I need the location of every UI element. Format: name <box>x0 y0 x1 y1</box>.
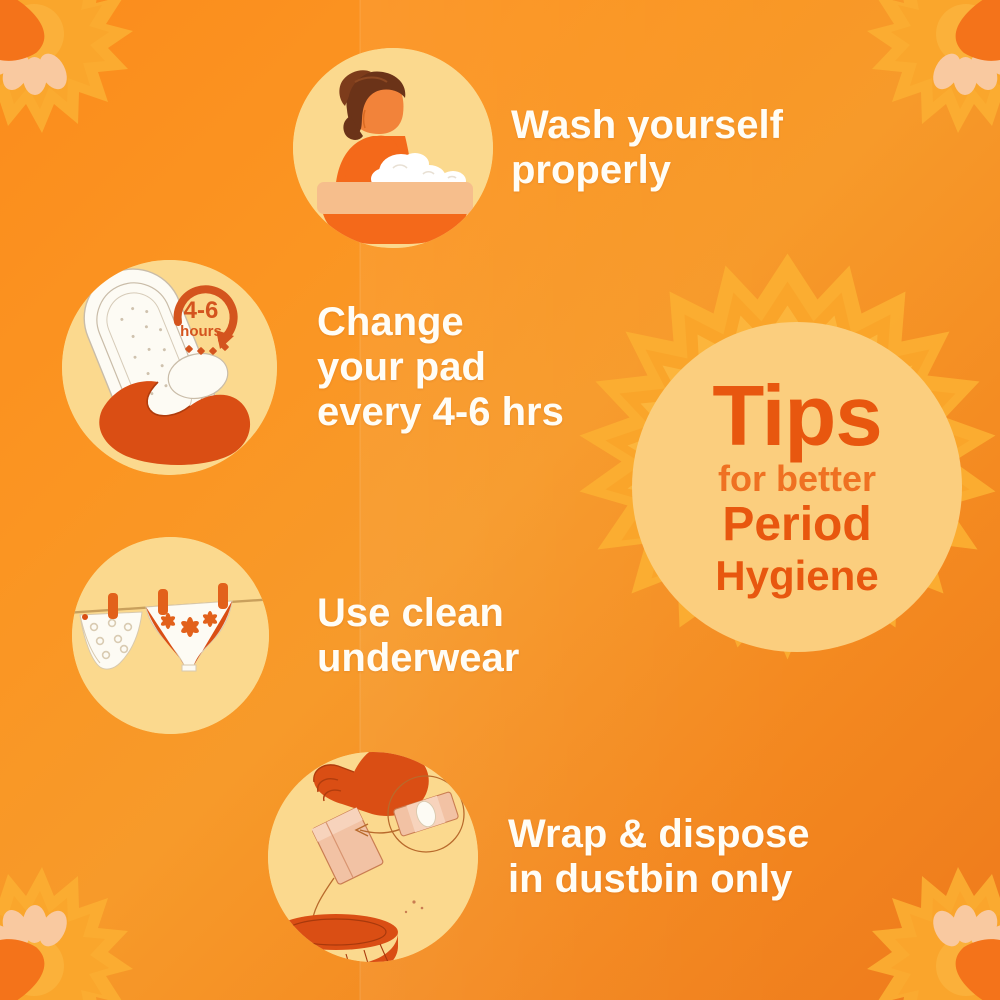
mandala-bottom-left-icon <box>0 866 134 1000</box>
badge-hours-unit: hours <box>180 323 222 340</box>
mandala-bottom-right-icon <box>866 866 1000 1000</box>
tips-title-line2: for better <box>718 460 876 498</box>
underwear-on-clothesline-icon <box>72 537 269 734</box>
tips-title-line4: Hygiene <box>715 554 878 599</box>
poster-canvas: Tips for better Period Hygiene <box>0 0 1000 1000</box>
hand-dropping-pad-in-bin-icon <box>268 752 478 962</box>
badge-hours-value: 4-6 <box>184 297 219 324</box>
tip-item-change-pad: 4-6 hours Change your pad every 4-6 hrs <box>62 260 564 475</box>
tip-item-dispose: Wrap & dispose in dustbin only <box>268 752 810 962</box>
mandala-top-left-icon <box>0 0 134 134</box>
tips-title-line3: Period <box>722 500 871 550</box>
tip-label-change-pad: Change your pad every 4-6 hrs <box>317 300 564 434</box>
tip-label-underwear: Use clean underwear <box>317 591 519 681</box>
tip-item-underwear: Use clean underwear <box>72 537 519 734</box>
tips-title-circle: Tips for better Period Hygiene <box>632 322 962 652</box>
sanitary-pad-in-hand-icon: 4-6 hours <box>62 260 277 475</box>
tips-badge-group: Tips for better Period Hygiene <box>560 250 1000 705</box>
bathtub-woman-icon <box>293 48 493 248</box>
tip-label-wash: Wash yourself properly <box>511 103 783 193</box>
tip-label-dispose: Wrap & dispose in dustbin only <box>508 812 810 902</box>
tips-title-main: Tips <box>712 376 881 458</box>
mandala-top-right-icon <box>866 0 1000 134</box>
tip-item-wash: Wash yourself properly <box>293 48 783 248</box>
